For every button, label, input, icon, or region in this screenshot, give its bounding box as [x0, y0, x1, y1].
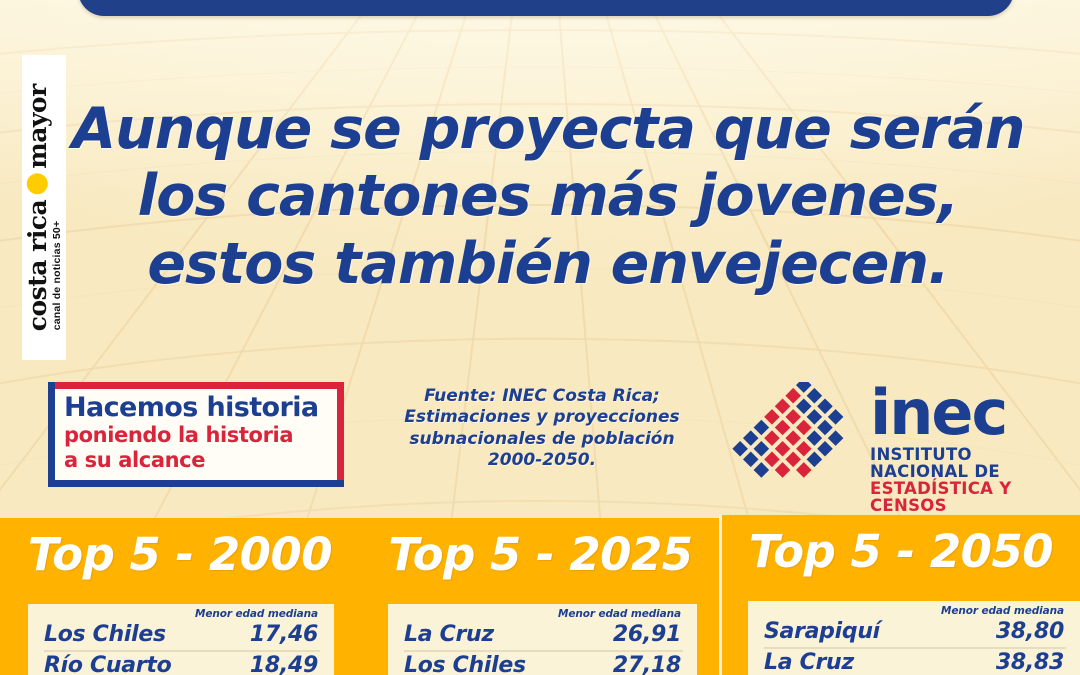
infographic-canvas: costa rica mayor canal de noticias 50+ A… [0, 0, 1080, 675]
inec-subtitle-line-1: INSTITUTO NACIONAL DE [870, 446, 1056, 481]
source-note-line-2: Estimaciones y proyecciones [392, 407, 692, 428]
panel-title-2025: Top 5 - 2025 [360, 532, 721, 577]
table-card-2050: Menor edad mediana Sarapiquí 38,80 La Cr… [748, 601, 1080, 675]
row-value: 17,46 [250, 624, 320, 646]
channel-logo-name-part1: costa rica [25, 200, 50, 332]
channel-logo-name-part2: mayor [25, 84, 50, 169]
column-header-2000: Menor edad mediana [44, 608, 320, 621]
table-row: Río Cuarto 18,49 [44, 652, 320, 675]
channel-logo-name: costa rica mayor [25, 84, 50, 331]
yellow-dot-icon [27, 174, 48, 195]
row-canton: Sarapiquí [764, 621, 880, 643]
top5-panels: Top 5 - 2000 Menor edad mediana Los Chil… [0, 515, 1080, 675]
inec-subtitle-line-2: ESTADÍSTICA Y CENSOS [870, 480, 1056, 515]
table-row: Los Chiles 17,46 [44, 621, 320, 652]
table-card-2000: Menor edad mediana Los Chiles 17,46 Río … [28, 604, 334, 675]
source-note-line-3: subnacionales de población [392, 429, 692, 450]
inec-logo: inec INSTITUTO NACIONAL DE ESTADÍSTICA Y… [726, 380, 1056, 492]
table-row: Los Chiles 27,18 [404, 652, 683, 675]
inec-diamond-grid-icon [726, 382, 866, 490]
panel-top5-2025: Top 5 - 2025 Menor edad mediana La Cruz … [360, 518, 721, 675]
hacemos-historia-subtitle-line-1: poniendo la historia [64, 424, 334, 447]
row-value: 26,91 [613, 624, 683, 646]
hacemos-historia-logo: Hacemos historia poniendo la historia a … [48, 382, 344, 487]
row-value: 38,83 [996, 652, 1066, 674]
channel-logo: costa rica mayor canal de noticias 50+ [22, 55, 66, 360]
column-header-2050: Menor edad mediana [764, 605, 1066, 618]
row-canton: Los Chiles [44, 624, 166, 646]
column-header-2025: Menor edad mediana [404, 608, 683, 621]
row-value: 38,80 [996, 621, 1066, 643]
row-value: 27,18 [613, 655, 683, 675]
source-note-line-1: Fuente: INEC Costa Rica; [392, 386, 692, 407]
headline-line-3: estos también envejecen. [72, 231, 1024, 298]
channel-logo-tagline: canal de noticias 50+ [52, 220, 63, 330]
hacemos-historia-title: Hacemos historia [64, 394, 334, 422]
headline: Aunque se proyecta que serán los cantone… [72, 96, 1024, 298]
row-canton: Los Chiles [404, 655, 526, 675]
hacemos-historia-subtitle-line-2: a su alcance [64, 449, 334, 472]
source-note: Fuente: INEC Costa Rica; Estimaciones y … [392, 386, 692, 471]
panel-top5-2000: Top 5 - 2000 Menor edad mediana Los Chil… [0, 518, 360, 675]
panel-title-2050: Top 5 - 2050 [722, 529, 1080, 574]
headline-line-2: los cantones más jovenes, [72, 163, 1024, 230]
row-canton: La Cruz [764, 652, 854, 674]
table-row: Sarapiquí 38,80 [764, 618, 1066, 649]
panel-title-2000: Top 5 - 2000 [0, 532, 360, 577]
row-value: 18,49 [250, 655, 320, 675]
table-row: La Cruz 38,83 [764, 649, 1066, 675]
source-note-line-4: 2000-2050. [392, 450, 692, 471]
table-row: La Cruz 26,91 [404, 621, 683, 652]
inec-wordmark: inec [870, 386, 1056, 441]
headline-line-1: Aunque se proyecta que serán [72, 96, 1024, 163]
table-card-2025: Menor edad mediana La Cruz 26,91 Los Chi… [388, 604, 697, 675]
row-canton: La Cruz [404, 624, 494, 646]
row-canton: Río Cuarto [44, 655, 171, 675]
panel-top5-2050: Top 5 - 2050 Menor edad mediana Sarapiqu… [722, 515, 1080, 675]
top-blue-banner [78, 0, 1014, 16]
